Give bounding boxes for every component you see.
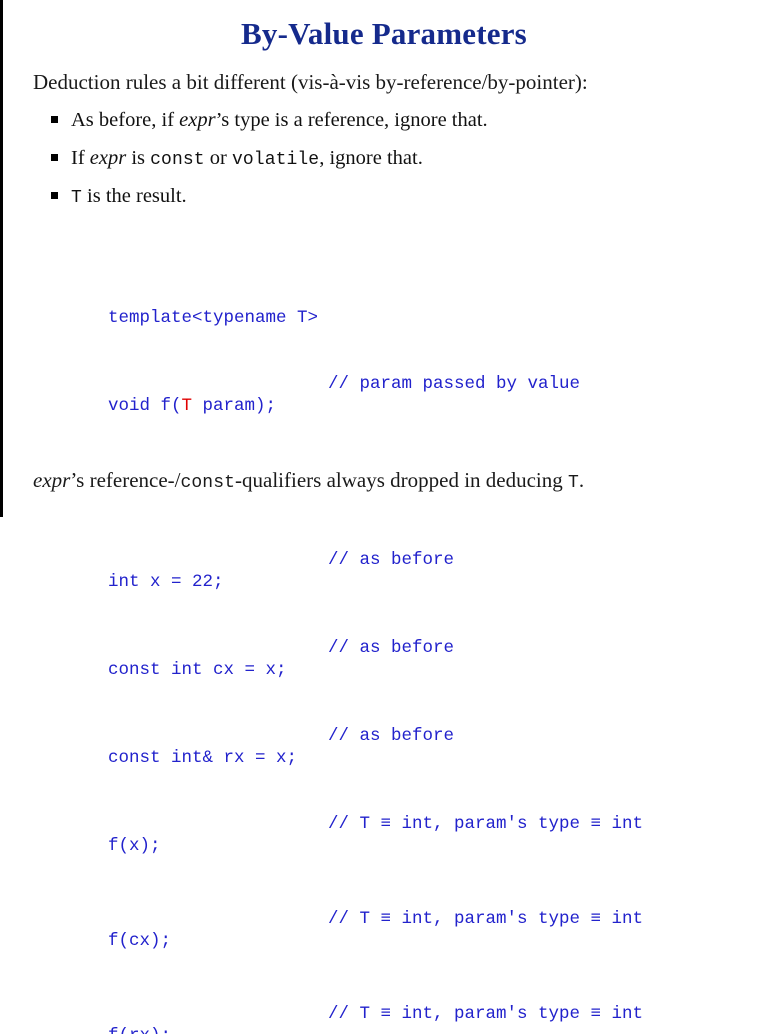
slide-canvas: By-Value Parameters Deduction rules a bi… bbox=[0, 0, 762, 517]
bullet-item-reference: As before, if expr’s type is a reference… bbox=[51, 107, 751, 145]
footer-text-part3: . bbox=[579, 468, 584, 492]
code-comment: // as before bbox=[328, 637, 454, 659]
code-text: f(x); bbox=[108, 836, 161, 856]
code-line-const-int-cx: const int cx = x; // as before bbox=[45, 637, 318, 659]
bullet-text-pre: As before, if bbox=[71, 109, 179, 131]
code-text: const int cx = x; bbox=[108, 660, 287, 680]
page-title: By-Value Parameters bbox=[3, 16, 762, 52]
bullet-code-T: T bbox=[71, 188, 82, 208]
code-comment: // param passed by value bbox=[328, 373, 580, 395]
code-line-call-fx: f(x); // T ≡ int, param's type ≡ int bbox=[45, 813, 318, 842]
code-line-call-fcx: f(cx); // T ≡ int, param's type ≡ int bbox=[45, 908, 318, 937]
code-text-b: param); bbox=[192, 396, 276, 416]
code-text: int x = 22; bbox=[108, 572, 224, 592]
square-bullet-icon bbox=[51, 154, 58, 161]
code-line-void-f: void f(T param); // param passed by valu… bbox=[45, 373, 318, 395]
code-comment: // T ≡ int, param's type ≡ int bbox=[328, 908, 643, 930]
footer-text-part2: -qualifiers always dropped in deducing bbox=[235, 468, 568, 492]
code-text: template<typename T> bbox=[108, 308, 318, 328]
bullet-code-volatile: volatile bbox=[232, 150, 319, 170]
bullet-emphasis-expr: expr bbox=[90, 147, 126, 169]
bullet-text-mid2: or bbox=[205, 147, 232, 169]
bullet-emphasis-expr: expr bbox=[179, 109, 215, 131]
code-line-const-intref-rx: const int& rx = x; // as before bbox=[45, 725, 318, 747]
code-text: const int& rx = x; bbox=[108, 748, 297, 768]
code-comment: // as before bbox=[328, 549, 454, 571]
bullet-text-mid: is bbox=[126, 147, 150, 169]
bullet-list: As before, if expr’s type is a reference… bbox=[51, 107, 751, 221]
bullet-text-pre: If bbox=[71, 147, 90, 169]
code-block: template<typename T> void f(T param); //… bbox=[45, 219, 318, 1034]
code-text: f(rx); bbox=[108, 1026, 171, 1034]
footer-code-T: T bbox=[568, 473, 579, 493]
square-bullet-icon bbox=[51, 192, 58, 199]
code-comment: // T ≡ int, param's type ≡ int bbox=[328, 1003, 643, 1025]
code-comment: // T ≡ int, param's type ≡ int bbox=[328, 813, 643, 835]
bullet-text-mid2: is the result. bbox=[82, 185, 187, 207]
code-line-int-x: int x = 22; // as before bbox=[45, 549, 318, 571]
code-comment: // as before bbox=[328, 725, 454, 747]
bullet-text-tail: , ignore that. bbox=[319, 147, 423, 169]
code-line-call-frx: f(rx); // T ≡ int, param's type ≡ int bbox=[45, 1003, 318, 1032]
footer-summary: expr’s reference-/const-qualifiers alway… bbox=[33, 468, 584, 493]
footer-text-part1: ’s reference-/ bbox=[70, 468, 180, 492]
bullet-code-const: const bbox=[150, 150, 205, 170]
square-bullet-icon bbox=[51, 116, 58, 123]
footer-emphasis-expr: expr bbox=[33, 468, 70, 492]
code-line-template: template<typename T> bbox=[45, 285, 318, 307]
code-text: f(cx); bbox=[108, 931, 171, 951]
bullet-text-mid: ’s type is a reference, ignore that. bbox=[216, 109, 488, 131]
code-text-a: void f( bbox=[108, 396, 182, 416]
code-template-param-T: T bbox=[182, 396, 193, 416]
intro-paragraph: Deduction rules a bit different (vis-à-v… bbox=[33, 70, 588, 95]
bullet-item-cv: If expr is const or volatile, ignore tha… bbox=[51, 145, 751, 183]
bullet-item-result: T is the result. bbox=[51, 183, 751, 221]
footer-code-const: const bbox=[181, 473, 236, 493]
